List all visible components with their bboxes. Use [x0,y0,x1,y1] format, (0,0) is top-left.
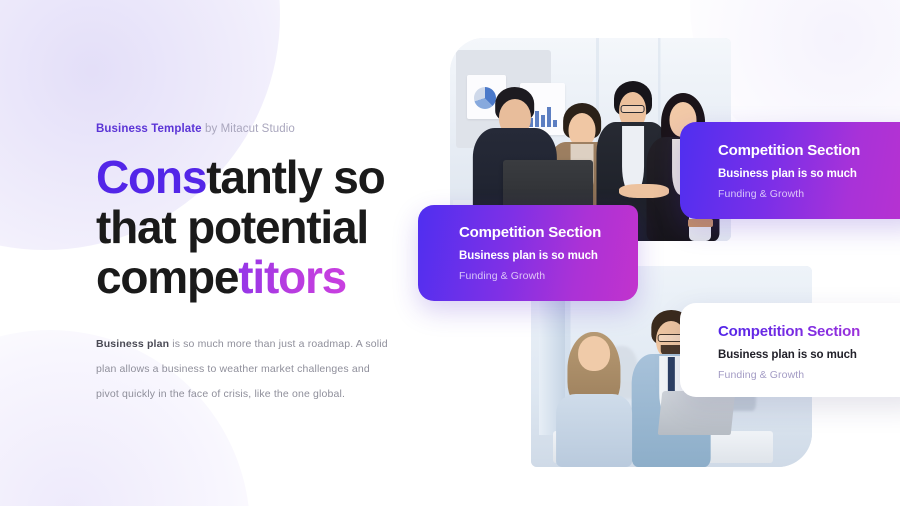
headline-line-2: that potential [96,202,396,252]
presentation-slide: Business Template by Mitacut Studio Cons… [0,0,900,506]
body-paragraph: Business plan is so much more than just … [96,332,388,407]
card-subtitle: Business plan is so much [718,168,900,180]
eyebrow-line: Business Template by Mitacut Studio [96,122,396,136]
card-meta: Funding & Growth [718,369,900,381]
card-subtitle: Business plan is so much [718,349,900,361]
body-lead-term: Business plan [96,338,169,350]
competition-card-top[interactable]: Competition Section Business plan is so … [680,122,900,219]
card-title: Competition Section [718,142,900,160]
competition-card-middle[interactable]: Competition Section Business plan is so … [418,205,638,301]
text-column: Business Template by Mitacut Studio Cons… [96,122,396,407]
card-title: Competition Section [459,224,638,242]
person-light-blue-jacket [556,332,632,467]
headline-line-1-rest: tantly so [206,151,384,203]
card-meta: Funding & Growth [459,270,638,282]
headline-line-3-plain: compe [96,251,238,303]
headline-accent-blue: Cons [96,151,206,203]
card-subtitle: Business plan is so much [459,250,638,262]
card-title: Competition Section [718,323,900,341]
card-meta: Funding & Growth [718,188,900,200]
template-name: Business Template [96,123,202,135]
laptop-two [658,391,736,435]
page-title: Constantly so that potential competitors [96,152,396,302]
headline-line-3: competitors [96,252,396,302]
pointing-arm [619,184,670,198]
eyeglasses [620,105,645,113]
competition-card-bottom[interactable]: Competition Section Business plan is so … [680,303,900,397]
headline-line-1: Constantly so [96,152,396,202]
headline-accent-gradient: titors [238,251,346,303]
template-byline: by Mitacut Studio [202,123,295,135]
